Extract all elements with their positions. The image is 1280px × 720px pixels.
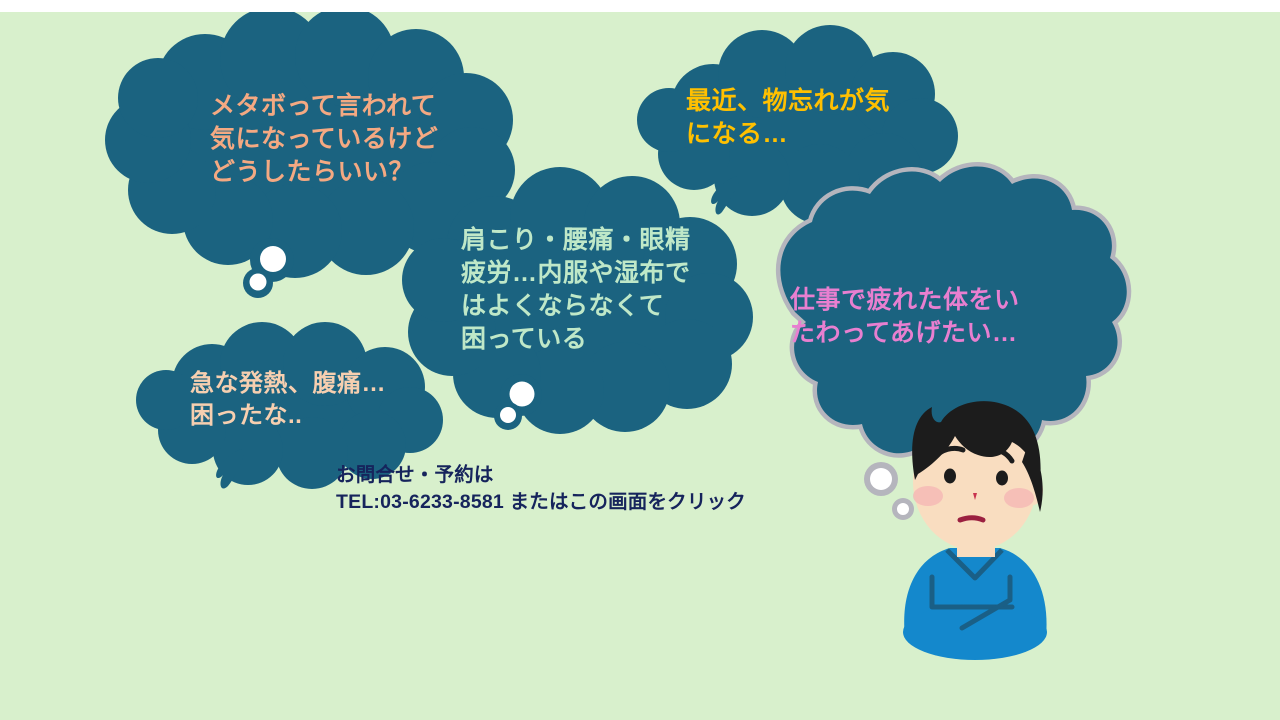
worried-man-illustration: [903, 401, 1047, 660]
bubbles-artwork: [0, 12, 1280, 720]
bubble-tail-tired-body: [864, 462, 914, 520]
contact-info[interactable]: お問合せ・予約は TEL:03-6233-8581 またはこの画面をクリック: [336, 462, 746, 516]
promo-banner[interactable]: メタボって言われて 気になっているけど どうしたらいい？ 最近、物忘れが気 にな…: [0, 12, 1280, 720]
screenshot-root: メタボって言われて 気になっているけど どうしたらいい？ 最近、物忘れが気 にな…: [0, 0, 1280, 720]
